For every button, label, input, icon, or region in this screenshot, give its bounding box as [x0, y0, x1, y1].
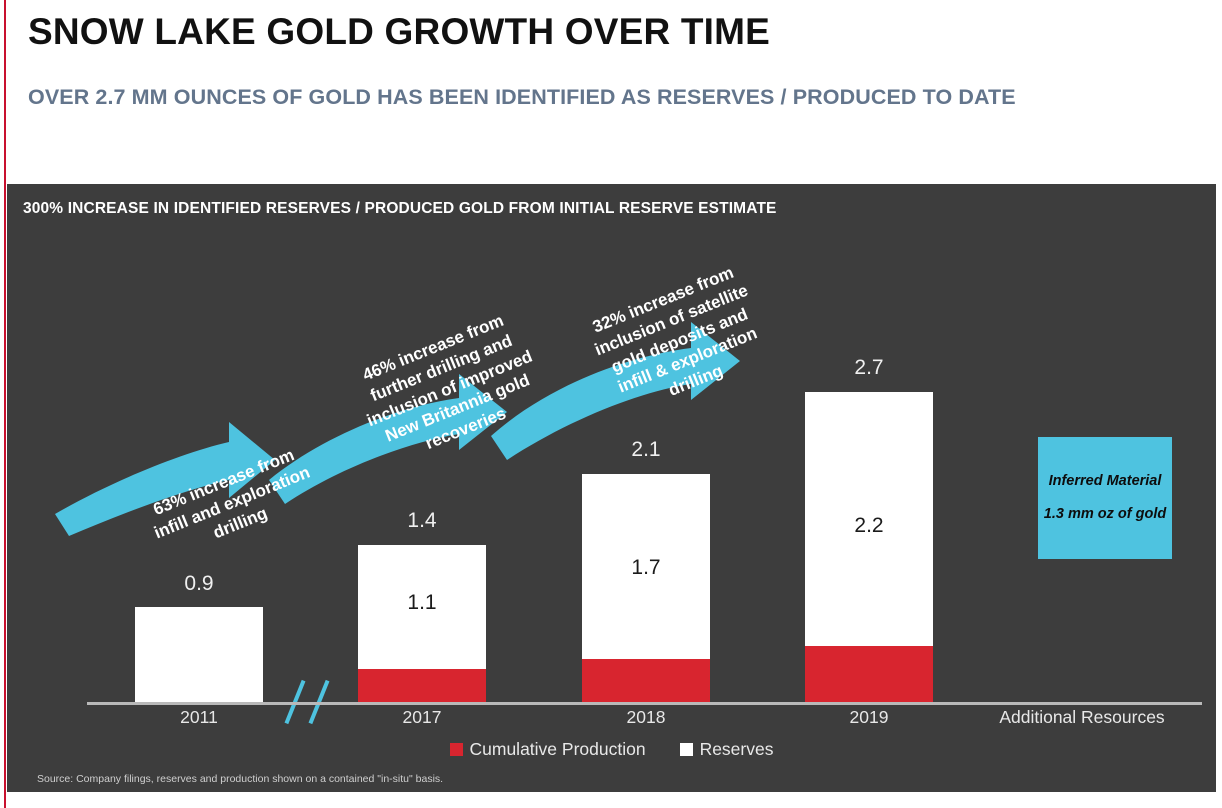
bar-total-label-2011: 0.9 [135, 572, 263, 596]
bar-segment-production-2019 [805, 646, 933, 702]
bar-2017 [358, 545, 486, 702]
bar-total-label-2018: 2.1 [582, 438, 710, 462]
left-accent-rule [4, 0, 6, 808]
source-note: Source: Company filings, reserves and pr… [37, 773, 443, 785]
bar-inner-label-2019: 2.2 [805, 514, 933, 538]
bar-2018 [582, 474, 710, 702]
bar-segment-production-2018 [582, 659, 710, 702]
bar-segment-production-2017 [358, 669, 486, 702]
legend-item-cumulative-production: Cumulative Production [450, 739, 646, 760]
chart-panel: 300% INCREASE IN IDENTIFIED RESERVES / P… [7, 184, 1216, 792]
x-axis-label-2018: 2018 [561, 707, 731, 728]
legend-swatch-icon-production [450, 743, 463, 756]
legend-swatch-icon-reserves [680, 743, 693, 756]
bar-inner-label-2017: 1.1 [358, 591, 486, 615]
legend-item-reserves: Reserves [680, 739, 774, 760]
x-axis-label-2019: 2019 [784, 707, 954, 728]
bar-segment-reserves-2011 [135, 607, 263, 702]
page-title: SNOW LAKE GOLD GROWTH OVER TIME [28, 12, 1128, 53]
bar-inner-label-2018: 1.7 [582, 556, 710, 580]
legend-label-reserves: Reserves [700, 739, 774, 760]
bar-total-label-2017: 1.4 [358, 509, 486, 533]
bar-total-label-2019: 2.7 [805, 356, 933, 380]
chart-legend: Cumulative Production Reserves [7, 739, 1216, 760]
x-axis-line [87, 702, 1202, 705]
x-axis-label-2017: 2017 [337, 707, 507, 728]
legend-label-production: Cumulative Production [470, 739, 646, 760]
x-axis-label-additional-resources: Additional Resources [962, 707, 1202, 728]
bar-2011 [135, 607, 263, 702]
bar-2019 [805, 392, 933, 702]
bar-chart-plot: 63% increase from infill and exploration… [7, 184, 1216, 792]
page-subtitle: OVER 2.7 MM OUNCES OF GOLD HAS BEEN IDEN… [28, 84, 1148, 112]
x-axis-label-2011: 2011 [114, 707, 284, 728]
